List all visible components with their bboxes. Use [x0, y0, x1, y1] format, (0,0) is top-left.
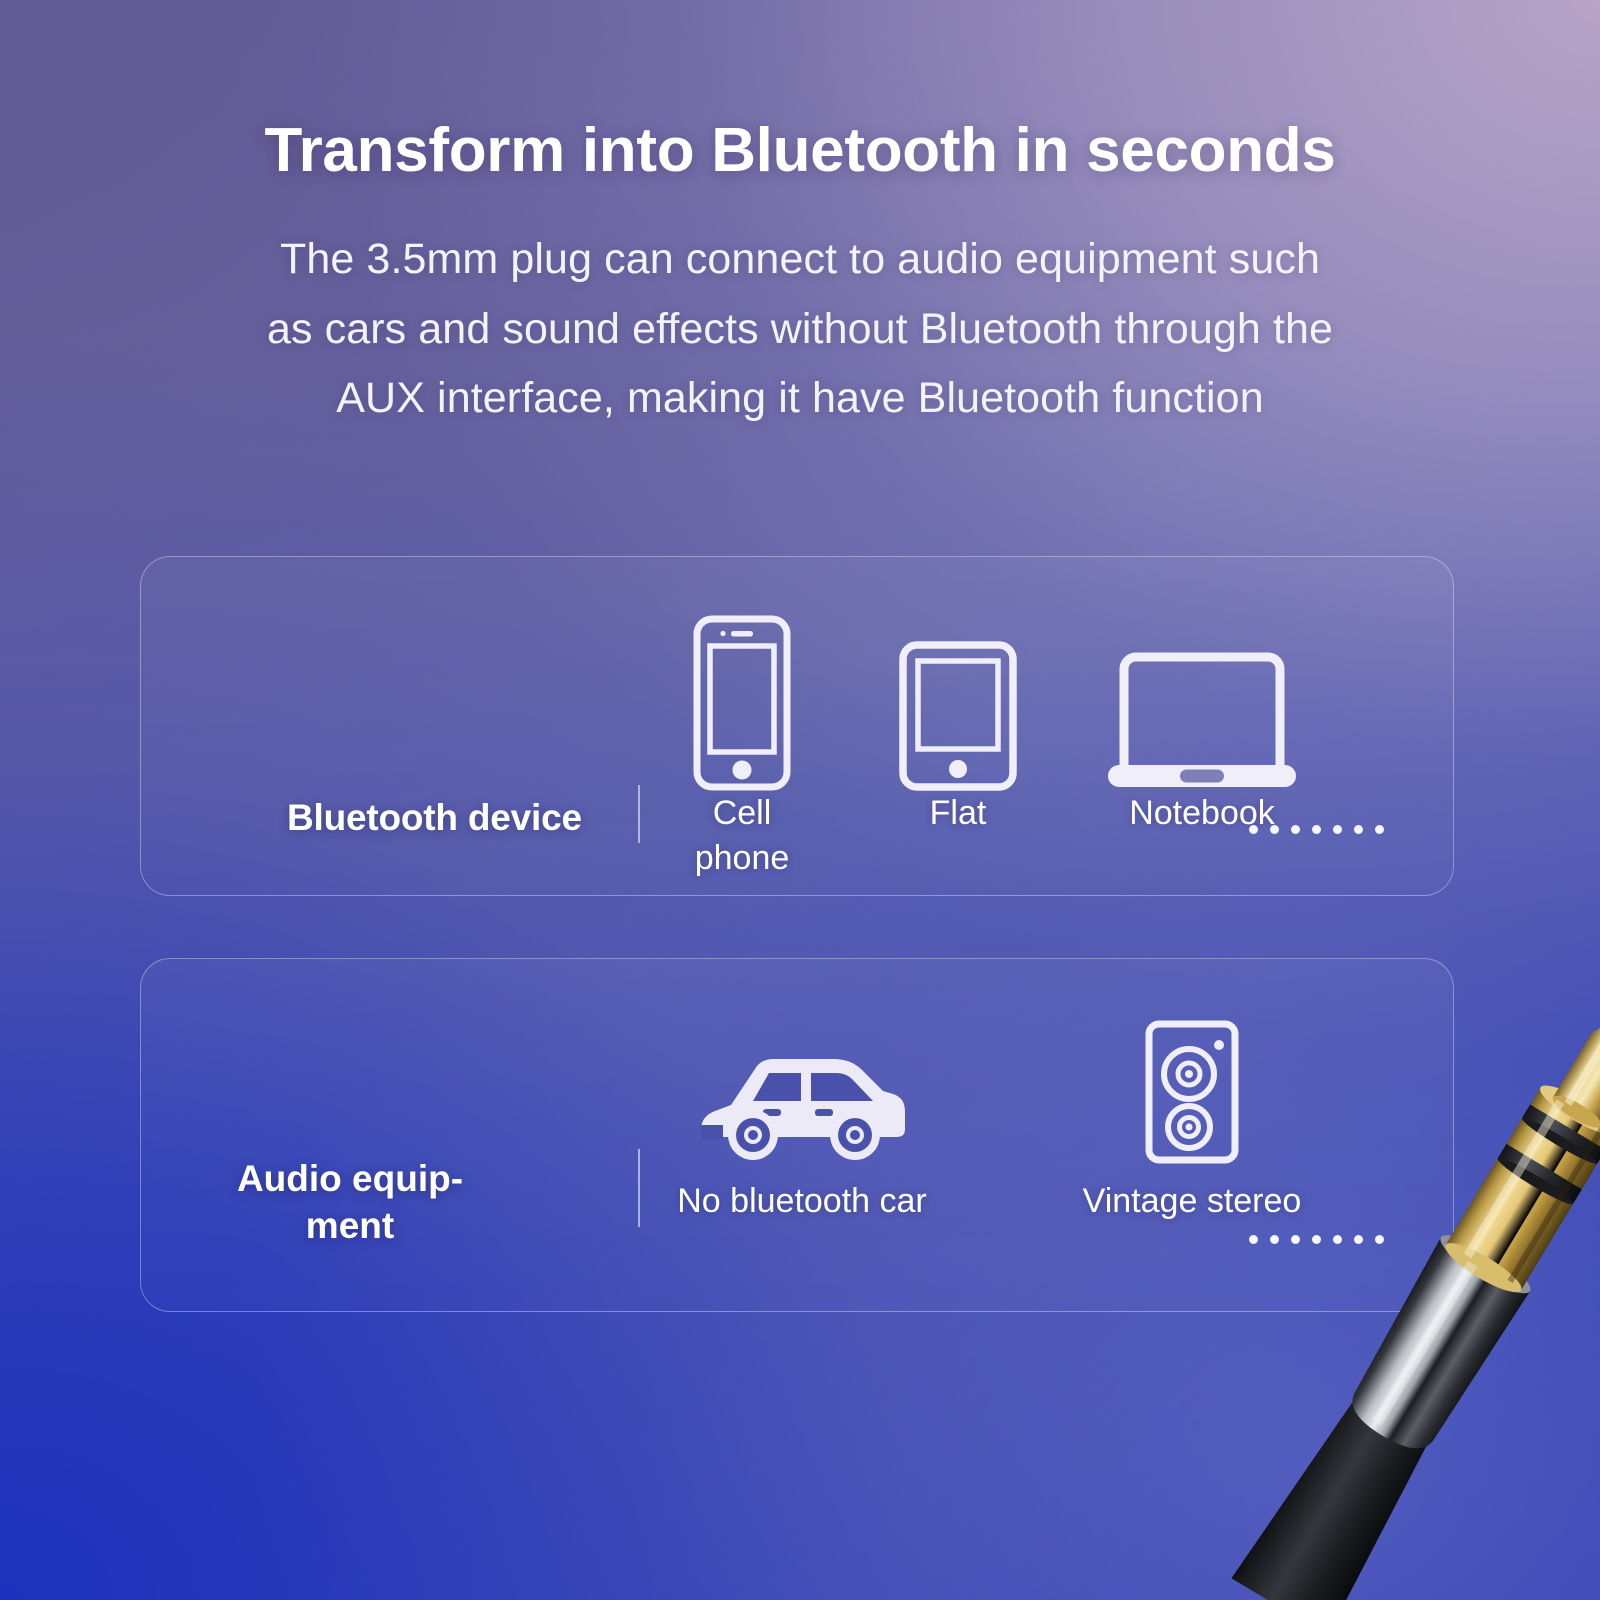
speaker-icon — [1144, 1019, 1240, 1165]
audio-caption-line-1: Audio equip- — [185, 1155, 515, 1202]
smartphone-icon — [693, 615, 791, 791]
bluetooth-device-caption: Bluetooth device — [287, 797, 582, 839]
audio-equipment-caption: Audio equip- ment — [185, 1155, 515, 1250]
more-audio-indicator — [1249, 1235, 1384, 1244]
device-item-cell-phone: Cell phone — [628, 605, 856, 881]
header-block: Transform into Bluetooth in seconds The … — [0, 118, 1600, 434]
audio-item-stereo: Vintage stereo — [903, 1011, 1481, 1224]
subtitle-line-2: as cars and sound effects without Blueto… — [0, 295, 1600, 365]
audio-label: Vintage stereo — [903, 1179, 1481, 1224]
more-devices-indicator — [1249, 825, 1384, 834]
car-icon — [693, 1047, 911, 1165]
device-label: Flat — [844, 791, 1072, 836]
page-title: Transform into Bluetooth in seconds — [0, 118, 1600, 183]
audio-caption-line-2: ment — [185, 1202, 515, 1249]
page-subtitle: The 3.5mm plug can connect to audio equi… — [0, 225, 1600, 434]
bluetooth-devices-card: Bluetooth device Cell phone — [140, 556, 1454, 896]
subtitle-line-3: AUX interface, making it have Bluetooth … — [0, 364, 1600, 434]
device-label: Cell phone — [628, 791, 856, 881]
subtitle-line-1: The 3.5mm plug can connect to audio equi… — [0, 225, 1600, 295]
promo-banner: Transform into Bluetooth in seconds The … — [0, 0, 1600, 1600]
device-item-flat: Flat — [844, 605, 1072, 836]
device-item-notebook: Notebook — [1057, 605, 1347, 836]
audio-equipment-card: Audio equip- ment — [140, 958, 1454, 1312]
tablet-icon — [899, 641, 1017, 791]
laptop-icon — [1104, 645, 1300, 791]
